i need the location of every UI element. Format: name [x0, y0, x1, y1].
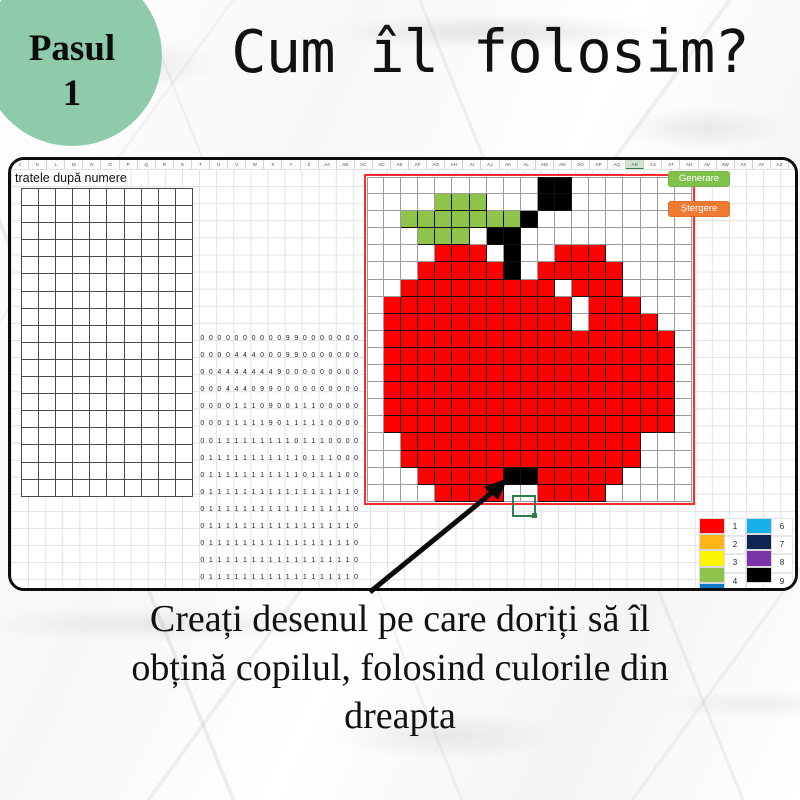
art-pixel-1[interactable] — [452, 280, 469, 297]
column-header-t[interactable]: T — [192, 160, 210, 169]
art-pixel-1[interactable] — [384, 365, 401, 382]
art-pixel-4[interactable] — [452, 211, 469, 228]
art-pixel-0[interactable] — [623, 262, 640, 279]
matrix-cell[interactable]: 0 — [198, 398, 207, 415]
matrix-cell[interactable]: 0 — [326, 381, 335, 398]
blank-cell[interactable] — [22, 463, 39, 480]
art-pixel-0[interactable] — [401, 245, 418, 262]
art-pixel-9[interactable] — [538, 194, 555, 211]
art-pixel-1[interactable] — [401, 348, 418, 365]
art-pixel-1[interactable] — [452, 331, 469, 348]
art-pixel-0[interactable] — [367, 433, 384, 450]
matrix-cell[interactable]: 4 — [258, 364, 267, 381]
art-pixel-0[interactable] — [675, 262, 692, 279]
blank-cell[interactable] — [90, 480, 107, 497]
art-pixel-1[interactable] — [435, 348, 452, 365]
art-pixel-1[interactable] — [435, 297, 452, 314]
blank-cell[interactable] — [125, 394, 142, 411]
art-pixel-0[interactable] — [675, 365, 692, 382]
art-pixel-0[interactable] — [623, 280, 640, 297]
blank-cell[interactable] — [73, 274, 90, 291]
matrix-cell[interactable]: 1 — [301, 501, 310, 518]
blank-cell[interactable] — [125, 292, 142, 309]
matrix-cell[interactable]: 1 — [232, 433, 241, 450]
art-pixel-1[interactable] — [452, 262, 469, 279]
blank-cell[interactable] — [176, 309, 193, 326]
art-pixel-1[interactable] — [418, 331, 435, 348]
art-pixel-9[interactable] — [487, 228, 504, 245]
art-pixel-4[interactable] — [470, 211, 487, 228]
art-pixel-1[interactable] — [504, 348, 521, 365]
blank-cell[interactable] — [73, 206, 90, 223]
matrix-cell[interactable]: 1 — [224, 433, 233, 450]
matrix-cell[interactable]: 1 — [275, 586, 284, 591]
column-header-o[interactable]: O — [101, 160, 119, 169]
art-pixel-0[interactable] — [623, 245, 640, 262]
legend-swatch-6[interactable] — [746, 518, 772, 534]
art-pixel-0[interactable] — [641, 177, 658, 194]
art-pixel-1[interactable] — [555, 382, 572, 399]
art-pixel-1[interactable] — [487, 399, 504, 416]
blank-cell[interactable] — [39, 257, 56, 274]
blank-cell[interactable] — [90, 411, 107, 428]
column-header-au[interactable]: AU — [680, 160, 698, 169]
matrix-cell[interactable]: 1 — [232, 586, 241, 591]
matrix-cell[interactable]: 1 — [275, 484, 284, 501]
matrix-cell[interactable]: 1 — [326, 552, 335, 569]
matrix-cell[interactable]: 4 — [249, 347, 258, 364]
blank-cell[interactable] — [107, 240, 124, 257]
matrix-cell[interactable]: 0 — [198, 450, 207, 467]
blank-cell[interactable] — [159, 274, 176, 291]
art-pixel-1[interactable] — [589, 468, 606, 485]
blank-cell[interactable] — [56, 480, 73, 497]
art-pixel-1[interactable] — [521, 280, 538, 297]
blank-cell[interactable] — [176, 343, 193, 360]
matrix-cell[interactable]: 1 — [309, 586, 318, 591]
blank-cell[interactable] — [39, 394, 56, 411]
matrix-cell[interactable]: 0 — [318, 330, 327, 347]
matrix-cell[interactable]: 0 — [283, 381, 292, 398]
matrix-cell[interactable]: 0 — [343, 364, 352, 381]
art-pixel-0[interactable] — [641, 262, 658, 279]
blank-cell[interactable] — [125, 189, 142, 206]
column-header-ab[interactable]: AB — [337, 160, 355, 169]
matrix-cell[interactable]: 1 — [258, 484, 267, 501]
art-pixel-0[interactable] — [641, 245, 658, 262]
art-pixel-1[interactable] — [521, 314, 538, 331]
art-pixel-1[interactable] — [418, 348, 435, 365]
art-pixel-0[interactable] — [606, 245, 623, 262]
art-pixel-1[interactable] — [504, 416, 521, 433]
art-pixel-1[interactable] — [538, 314, 555, 331]
art-pixel-0[interactable] — [487, 245, 504, 262]
art-pixel-1[interactable] — [401, 382, 418, 399]
art-pixel-1[interactable] — [452, 433, 469, 450]
matrix-cell[interactable]: 1 — [292, 415, 301, 432]
matrix-cell[interactable]: 1 — [301, 518, 310, 535]
matrix-cell[interactable]: 1 — [292, 467, 301, 484]
matrix-cell[interactable]: 1 — [258, 569, 267, 586]
blank-cell[interactable] — [22, 326, 39, 343]
matrix-cell[interactable]: 0 — [343, 433, 352, 450]
art-pixel-1[interactable] — [521, 433, 538, 450]
matrix-cell[interactable]: 1 — [335, 467, 344, 484]
art-pixel-0[interactable] — [658, 451, 675, 468]
blank-cell[interactable] — [22, 428, 39, 445]
blank-cell[interactable] — [39, 189, 56, 206]
matrix-cell[interactable]: 1 — [249, 415, 258, 432]
blank-cell[interactable] — [39, 445, 56, 462]
blank-cell[interactable] — [176, 480, 193, 497]
column-header-ap[interactable]: AP — [590, 160, 608, 169]
column-header-x[interactable]: X — [264, 160, 282, 169]
blank-cell[interactable] — [39, 223, 56, 240]
art-pixel-1[interactable] — [589, 433, 606, 450]
art-pixel-0[interactable] — [606, 211, 623, 228]
column-header-ao[interactable]: AO — [572, 160, 590, 169]
matrix-cell[interactable]: 1 — [318, 484, 327, 501]
matrix-cell[interactable]: 1 — [224, 415, 233, 432]
legend-swatch-8[interactable] — [746, 550, 772, 566]
matrix-cell[interactable]: 1 — [309, 467, 318, 484]
matrix-cell[interactable]: 0 — [301, 347, 310, 364]
art-pixel-1[interactable] — [435, 280, 452, 297]
column-header-l[interactable]: L — [47, 160, 65, 169]
matrix-cell[interactable]: 1 — [266, 535, 275, 552]
blank-cell[interactable] — [107, 445, 124, 462]
art-pixel-0[interactable] — [623, 177, 640, 194]
blank-cell[interactable] — [176, 206, 193, 223]
blank-cell[interactable] — [90, 189, 107, 206]
matrix-cell[interactable]: 0 — [207, 433, 216, 450]
art-pixel-0[interactable] — [658, 297, 675, 314]
matrix-cell[interactable]: 1 — [258, 552, 267, 569]
art-pixel-0[interactable] — [675, 485, 692, 502]
blank-cell[interactable] — [56, 445, 73, 462]
column-header-ak[interactable]: AK — [500, 160, 518, 169]
art-pixel-4[interactable] — [418, 211, 435, 228]
matrix-cell[interactable]: 0 — [207, 415, 216, 432]
legend-swatch-1[interactable] — [699, 518, 725, 534]
art-pixel-0[interactable] — [504, 194, 521, 211]
art-pixel-1[interactable] — [606, 331, 623, 348]
blank-cell[interactable] — [176, 292, 193, 309]
matrix-cell[interactable]: 1 — [301, 415, 310, 432]
matrix-cell[interactable]: 1 — [275, 450, 284, 467]
matrix-cell[interactable]: 1 — [309, 433, 318, 450]
matrix-cell[interactable]: 1 — [275, 569, 284, 586]
column-header-av[interactable]: AV — [699, 160, 717, 169]
art-pixel-0[interactable] — [658, 228, 675, 245]
art-pixel-0[interactable] — [521, 228, 538, 245]
blank-cell[interactable] — [73, 240, 90, 257]
matrix-cell[interactable]: 1 — [249, 433, 258, 450]
art-pixel-0[interactable] — [521, 194, 538, 211]
matrix-cell[interactable]: 1 — [292, 501, 301, 518]
matrix-cell[interactable]: 0 — [207, 381, 216, 398]
matrix-cell[interactable]: 0 — [198, 433, 207, 450]
art-pixel-1[interactable] — [487, 433, 504, 450]
matrix-cell[interactable]: 0 — [335, 381, 344, 398]
art-pixel-1[interactable] — [658, 331, 675, 348]
matrix-cell[interactable]: 1 — [266, 518, 275, 535]
art-pixel-0[interactable] — [675, 280, 692, 297]
art-pixel-1[interactable] — [470, 348, 487, 365]
art-pixel-1[interactable] — [521, 348, 538, 365]
matrix-cell[interactable]: 1 — [283, 433, 292, 450]
art-pixel-9[interactable] — [504, 245, 521, 262]
art-pixel-1[interactable] — [435, 451, 452, 468]
matrix-cell[interactable]: 0 — [232, 330, 241, 347]
art-pixel-1[interactable] — [555, 365, 572, 382]
matrix-cell[interactable]: 4 — [224, 381, 233, 398]
column-header-ah[interactable]: AH — [445, 160, 463, 169]
matrix-cell[interactable]: 1 — [232, 484, 241, 501]
matrix-cell[interactable]: 0 — [318, 381, 327, 398]
column-header-an[interactable]: AN — [554, 160, 572, 169]
blank-cell[interactable] — [125, 274, 142, 291]
matrix-cell[interactable]: 1 — [283, 569, 292, 586]
matrix-cell[interactable]: 0 — [352, 415, 361, 432]
art-pixel-0[interactable] — [367, 297, 384, 314]
art-pixel-1[interactable] — [521, 382, 538, 399]
matrix-cell[interactable]: 1 — [283, 501, 292, 518]
matrix-cell[interactable]: 1 — [224, 501, 233, 518]
blank-cell[interactable] — [56, 223, 73, 240]
matrix-cell[interactable]: 1 — [326, 569, 335, 586]
matrix-cell[interactable]: 0 — [335, 398, 344, 415]
matrix-cell[interactable]: 0 — [207, 330, 216, 347]
matrix-cell[interactable]: 1 — [232, 467, 241, 484]
blank-cell[interactable] — [142, 463, 159, 480]
column-header-u[interactable]: U — [210, 160, 228, 169]
matrix-cell[interactable]: 0 — [198, 484, 207, 501]
matrix-cell[interactable]: 0 — [207, 347, 216, 364]
matrix-cell[interactable]: 4 — [266, 364, 275, 381]
blank-cell[interactable] — [159, 206, 176, 223]
art-pixel-1[interactable] — [538, 331, 555, 348]
art-pixel-1[interactable] — [452, 348, 469, 365]
blank-cell[interactable] — [22, 292, 39, 309]
matrix-cell[interactable]: 1 — [283, 450, 292, 467]
art-pixel-0[interactable] — [675, 468, 692, 485]
art-pixel-1[interactable] — [572, 245, 589, 262]
art-pixel-1[interactable] — [452, 399, 469, 416]
art-pixel-0[interactable] — [589, 228, 606, 245]
art-pixel-1[interactable] — [538, 262, 555, 279]
matrix-cell[interactable]: 1 — [215, 569, 224, 586]
matrix-cell[interactable]: 1 — [318, 586, 327, 591]
art-pixel-4[interactable] — [452, 228, 469, 245]
matrix-cell[interactable]: 1 — [283, 415, 292, 432]
blank-cell[interactable] — [125, 411, 142, 428]
matrix-cell[interactable]: 1 — [258, 467, 267, 484]
blank-cell[interactable] — [159, 326, 176, 343]
blank-cell[interactable] — [22, 411, 39, 428]
art-pixel-9[interactable] — [504, 228, 521, 245]
matrix-cell[interactable]: 0 — [215, 415, 224, 432]
matrix-cell[interactable]: 9 — [292, 347, 301, 364]
matrix-cell[interactable]: 0 — [335, 433, 344, 450]
art-pixel-1[interactable] — [589, 348, 606, 365]
art-pixel-0[interactable] — [555, 228, 572, 245]
art-pixel-1[interactable] — [572, 331, 589, 348]
matrix-cell[interactable]: 0 — [258, 347, 267, 364]
art-pixel-1[interactable] — [572, 365, 589, 382]
blank-cell[interactable] — [22, 394, 39, 411]
blank-cell[interactable] — [159, 292, 176, 309]
art-pixel-1[interactable] — [623, 382, 640, 399]
matrix-cell[interactable]: 1 — [241, 450, 250, 467]
matrix-cell[interactable]: 0 — [266, 347, 275, 364]
blank-cell[interactable] — [73, 377, 90, 394]
art-pixel-0[interactable] — [384, 211, 401, 228]
art-pixel-1[interactable] — [521, 416, 538, 433]
matrix-cell[interactable]: 1 — [232, 398, 241, 415]
blank-cell[interactable] — [56, 411, 73, 428]
art-pixel-1[interactable] — [435, 262, 452, 279]
art-pixel-0[interactable] — [658, 280, 675, 297]
blank-cell[interactable] — [142, 445, 159, 462]
matrix-cell[interactable]: 0 — [335, 364, 344, 381]
matrix-cell[interactable]: 0 — [343, 415, 352, 432]
blank-cell[interactable] — [159, 445, 176, 462]
blank-cell[interactable] — [22, 240, 39, 257]
art-pixel-0[interactable] — [418, 177, 435, 194]
art-pixel-1[interactable] — [623, 314, 640, 331]
matrix-cell[interactable]: 1 — [232, 450, 241, 467]
art-pixel-1[interactable] — [555, 348, 572, 365]
blank-cell[interactable] — [22, 445, 39, 462]
matrix-cell[interactable]: 0 — [249, 330, 258, 347]
art-pixel-0[interactable] — [538, 211, 555, 228]
matrix-cell[interactable]: 1 — [292, 569, 301, 586]
art-pixel-0[interactable] — [367, 451, 384, 468]
blank-cell[interactable] — [56, 428, 73, 445]
matrix-cell[interactable]: 1 — [215, 535, 224, 552]
matrix-cell[interactable]: 1 — [207, 518, 216, 535]
matrix-cell[interactable]: 1 — [275, 467, 284, 484]
blank-cell[interactable] — [90, 309, 107, 326]
matrix-cell[interactable]: 1 — [283, 535, 292, 552]
art-pixel-0[interactable] — [384, 228, 401, 245]
blank-cell[interactable] — [142, 257, 159, 274]
matrix-cell[interactable]: 9 — [266, 381, 275, 398]
matrix-cell[interactable]: 0 — [224, 347, 233, 364]
art-pixel-1[interactable] — [572, 433, 589, 450]
blank-cell[interactable] — [39, 428, 56, 445]
matrix-cell[interactable]: 1 — [283, 467, 292, 484]
matrix-cell[interactable]: 1 — [241, 552, 250, 569]
blank-cell[interactable] — [90, 428, 107, 445]
art-pixel-1[interactable] — [418, 297, 435, 314]
blank-cell[interactable] — [107, 274, 124, 291]
art-pixel-1[interactable] — [641, 399, 658, 416]
matrix-cell[interactable]: 1 — [224, 552, 233, 569]
art-pixel-1[interactable] — [572, 451, 589, 468]
art-pixel-1[interactable] — [606, 468, 623, 485]
art-pixel-4[interactable] — [452, 194, 469, 211]
art-pixel-1[interactable] — [641, 382, 658, 399]
art-pixel-1[interactable] — [470, 433, 487, 450]
blank-cell[interactable] — [125, 309, 142, 326]
art-pixel-1[interactable] — [555, 245, 572, 262]
art-pixel-1[interactable] — [572, 416, 589, 433]
art-pixel-1[interactable] — [521, 297, 538, 314]
blank-cell[interactable] — [56, 377, 73, 394]
art-pixel-1[interactable] — [641, 365, 658, 382]
matrix-cell[interactable]: 4 — [224, 364, 233, 381]
matrix-cell[interactable]: 1 — [283, 518, 292, 535]
matrix-cell[interactable]: 4 — [241, 364, 250, 381]
blank-cell[interactable] — [159, 240, 176, 257]
art-pixel-1[interactable] — [418, 416, 435, 433]
art-pixel-1[interactable] — [384, 382, 401, 399]
matrix-cell[interactable]: 0 — [335, 450, 344, 467]
matrix-cell[interactable]: 0 — [275, 330, 284, 347]
art-pixel-0[interactable] — [384, 280, 401, 297]
art-pixel-1[interactable] — [487, 262, 504, 279]
art-pixel-1[interactable] — [606, 297, 623, 314]
matrix-cell[interactable]: 0 — [258, 398, 267, 415]
art-pixel-1[interactable] — [658, 365, 675, 382]
column-header-al[interactable]: AL — [518, 160, 536, 169]
blank-cell[interactable] — [159, 463, 176, 480]
blank-cell[interactable] — [90, 445, 107, 462]
matrix-cell[interactable]: 1 — [215, 552, 224, 569]
art-pixel-1[interactable] — [555, 451, 572, 468]
matrix-cell[interactable]: 0 — [335, 347, 344, 364]
art-pixel-0[interactable] — [555, 280, 572, 297]
matrix-cell[interactable]: 1 — [232, 535, 241, 552]
matrix-cell[interactable]: 1 — [207, 467, 216, 484]
blank-cell[interactable] — [107, 189, 124, 206]
matrix-cell[interactable]: 0 — [275, 415, 284, 432]
art-pixel-0[interactable] — [641, 485, 658, 502]
blank-cell[interactable] — [56, 394, 73, 411]
blank-cell[interactable] — [56, 240, 73, 257]
art-pixel-0[interactable] — [487, 177, 504, 194]
art-pixel-1[interactable] — [470, 245, 487, 262]
legend-swatch-9[interactable] — [746, 567, 772, 583]
matrix-cell[interactable]: 1 — [292, 450, 301, 467]
art-pixel-1[interactable] — [589, 280, 606, 297]
matrix-cell[interactable]: 1 — [326, 518, 335, 535]
art-pixel-0[interactable] — [641, 297, 658, 314]
art-pixel-0[interactable] — [452, 177, 469, 194]
blank-cell[interactable] — [176, 326, 193, 343]
blank-cell[interactable] — [142, 377, 159, 394]
matrix-cell[interactable]: 1 — [309, 518, 318, 535]
matrix-cell[interactable]: 1 — [215, 433, 224, 450]
art-pixel-1[interactable] — [418, 262, 435, 279]
matrix-cell[interactable]: 0 — [198, 364, 207, 381]
art-pixel-9[interactable] — [555, 177, 572, 194]
art-pixel-1[interactable] — [452, 382, 469, 399]
matrix-cell[interactable]: 1 — [232, 569, 241, 586]
art-pixel-0[interactable] — [675, 331, 692, 348]
blank-cell[interactable] — [142, 206, 159, 223]
art-pixel-0[interactable] — [384, 262, 401, 279]
matrix-cell[interactable]: 4 — [241, 347, 250, 364]
art-pixel-4[interactable] — [470, 194, 487, 211]
art-pixel-0[interactable] — [367, 399, 384, 416]
art-pixel-1[interactable] — [589, 245, 606, 262]
matrix-cell[interactable]: 1 — [301, 586, 310, 591]
column-header-af[interactable]: AF — [409, 160, 427, 169]
blank-cell[interactable] — [90, 343, 107, 360]
